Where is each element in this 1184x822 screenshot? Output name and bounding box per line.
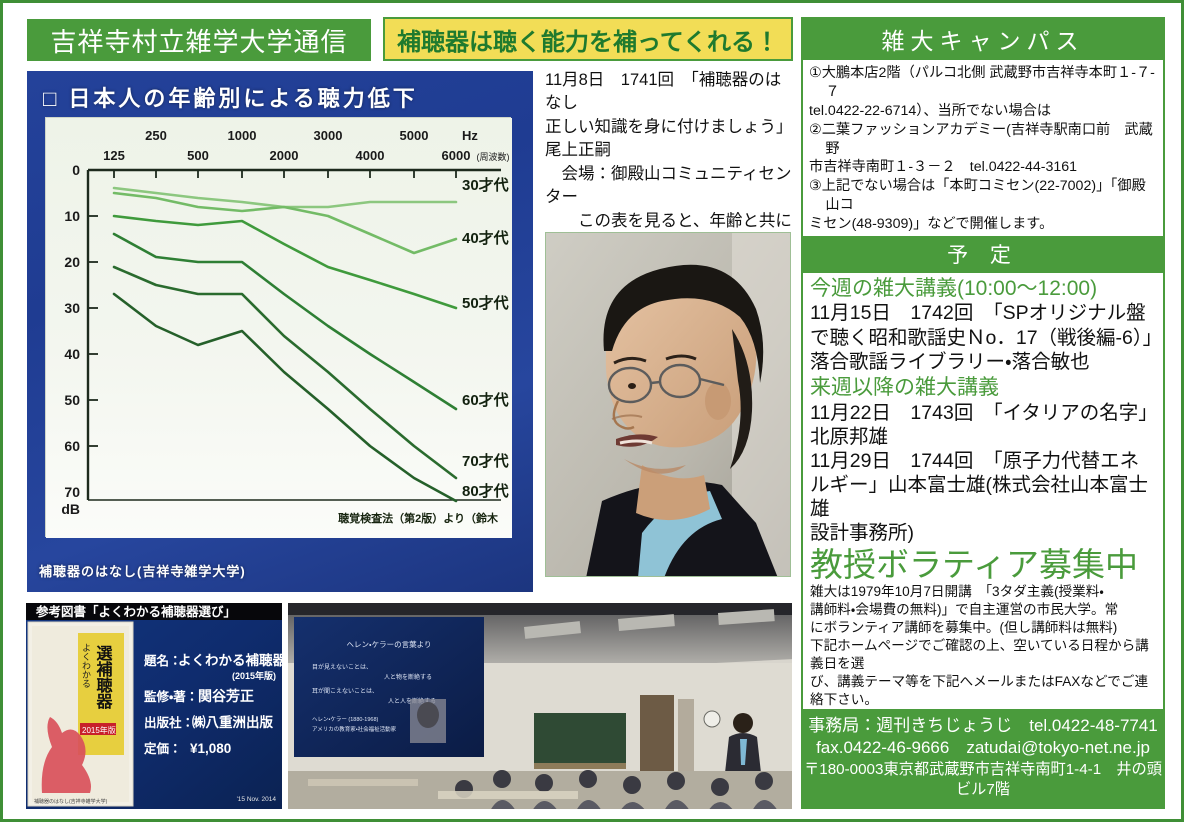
next-week-line: 設計事務所) <box>810 521 1156 545</box>
newsletter-title: 吉祥寺村立雑学大学通信 <box>50 22 347 59</box>
chart-area: 250 1000 3000 5000 Hz 125 500 2000 4000 … <box>45 117 511 537</box>
footer-contact: 事務局：週刊きちじょうじ tel.0422-48-7741 fax.0422-4… <box>803 709 1163 807</box>
schedule-header: 予 定 <box>803 236 1163 273</box>
chart-caption: 補聴器のはなし(吉祥寺雑学大学) <box>39 561 246 580</box>
left-content-block: 吉祥寺村立雑学大学通信 補聴器は聴く能力を補ってくれる！ □ 日本人の年齢別によ… <box>25 17 793 809</box>
recruit-body-line: び、講義テーマ等を下記へメールまたはFAXなどでご連絡下さい。 <box>810 673 1156 709</box>
footer-line-address: 〒180-0003東京都武蔵野市吉祥寺南町1-4-1 井の頭ビル7階 <box>803 760 1163 800</box>
campus-item: ③上記でない場合は「本町コミセン(22-7002)」「御殿山コ <box>809 177 1157 215</box>
book-label-publisher: 出版社： <box>144 715 194 730</box>
book-banner-text: 参考図書「よくわかる補聴器選び」 <box>35 604 236 619</box>
hearing-loss-line-chart: 250 1000 3000 5000 Hz 125 500 2000 4000 … <box>46 118 512 538</box>
chart-poster-panel: □ 日本人の年齢別による聴力低下 250 1000 <box>25 69 535 594</box>
newsletter-page: 吉祥寺村立雑学大学通信 補聴器は聴く能力を補ってくれる！ □ 日本人の年齢別によ… <box>0 0 1184 822</box>
recruit-title: 教授ボラティア募集中 <box>810 548 1156 582</box>
right-sidebar: 雑大キャンパス ①大鵬本店2階（パルコ北側 武蔵野市吉祥寺本町１-７-７ tel… <box>801 17 1165 809</box>
svg-text:1000: 1000 <box>228 128 257 143</box>
campus-item: 市吉祥寺南町１-３－２ tel.0422-44-3161 <box>809 158 1157 177</box>
svg-text:50: 50 <box>64 392 80 408</box>
svg-text:2000: 2000 <box>270 148 299 163</box>
portrait-illustration <box>546 233 791 577</box>
article-line-1: 11月8日 1741回 「補聴器のはなし <box>545 69 793 116</box>
series-label-60s: 60才代 <box>462 391 509 409</box>
book-value-editor: 関谷芳正 <box>198 688 254 704</box>
book-value-publisher: ㈱八重洲出版 <box>192 714 273 730</box>
svg-text:目が見えないことは、: 目が見えないことは、 <box>312 663 372 671</box>
book-cover-year: 2015年版 <box>82 725 116 735</box>
book-cover-corner-note: 補聴器のはなし(吉祥寺雑学大学) <box>34 798 108 805</box>
article-line-2: 正しい知識を身に付けましょう」尾上正嗣 <box>545 116 793 163</box>
this-week-line: 11月15日 1742回 「SPオリジナル盤 <box>810 301 1156 325</box>
campus-text: 上記でない場合は「本町コミセン(22-7002)」「御殿山コ <box>822 178 1146 213</box>
svg-text:dB: dB <box>61 501 80 517</box>
headline-banner: 補聴器は聴く能力を補ってくれる！ <box>383 17 793 61</box>
this-week-title: 今週の雑大講義(10:00〜12:00) <box>810 276 1156 302</box>
campus-item: ②二葉ファッションアカデミー(吉祥寺駅南口前 武蔵野 <box>809 121 1157 159</box>
svg-text:3000: 3000 <box>314 128 343 143</box>
campus-text: 二葉ファッションアカデミー(吉祥寺駅南口前 武蔵野 <box>822 122 1153 157</box>
svg-text:(周波数): (周波数) <box>477 151 510 162</box>
next-week-line: 11月29日 1744回 「原子力代替エネ <box>810 449 1156 473</box>
masthead-title-bar: 吉祥寺村立雑学大学通信 <box>25 17 373 63</box>
campus-marker: ② <box>809 122 822 138</box>
lecture-room-photo: ヘレン・ケラーの言葉より 目が見えないことは、 人と物を断絶する 耳が聞こえない… <box>287 602 793 810</box>
svg-text:40: 40 <box>64 346 80 362</box>
svg-text:125: 125 <box>103 148 125 163</box>
svg-text:10: 10 <box>64 208 80 224</box>
svg-text:20: 20 <box>64 254 80 270</box>
this-week-line: で聴く昭和歌謡史Ｎo．17（戦後編-6）」 <box>810 326 1156 350</box>
campus-item: ミセン(48-9309)」などで開催します。 <box>809 215 1157 234</box>
recruit-body-line: にボランティア講師を募集中。(但し講師料は無料) <box>810 619 1156 637</box>
series-label-80s: 80才代 <box>462 482 509 500</box>
schedule-section: 今週の雑大講義(10:00〜12:00) 11月15日 1742回 「SPオリジ… <box>803 273 1163 582</box>
room-photo-illustration: ヘレン・ケラーの言葉より 目が見えないことは、 人と物を断絶する 耳が聞こえない… <box>288 603 793 810</box>
recruit-body-line: 雑大は1979年10月7日開講 「3タダ主義(授業料・ <box>810 583 1156 601</box>
series-label-50s: 50才代 <box>462 294 509 312</box>
svg-text:ヘレン・ケラー (1880-1968): ヘレン・ケラー (1880-1968) <box>312 716 379 723</box>
svg-text:0: 0 <box>72 162 80 178</box>
recruit-body-line: 講師料・会場費の無料)」で自主運営の市民大学。常 <box>810 601 1156 619</box>
svg-text:30: 30 <box>64 300 80 316</box>
headline-text: 補聴器は聴く能力を補ってくれる！ <box>397 22 779 57</box>
recruit-body: 雑大は1979年10月7日開講 「3タダ主義(授業料・ 講師料・会場費の無料)」… <box>803 583 1163 709</box>
campus-marker: ① <box>809 65 822 81</box>
campus-text: ミセン(48-9309)」などで開催します。 <box>809 216 1053 232</box>
svg-text:60: 60 <box>64 438 80 454</box>
reference-book-photo: 参考図書「よくわかる補聴器選び」 選補聴器 よくわかる 2015年版 補聴器のは… <box>25 602 283 810</box>
slide-title: ヘレン・ケラーの言葉より <box>347 639 432 649</box>
chart-title: □ 日本人の年齢別による聴力低下 <box>43 81 418 113</box>
campus-text: 大鵬本店2階（パルコ北側 武蔵野市吉祥寺本町１-７-７ <box>822 65 1155 100</box>
book-cover-sub: よくわかる <box>81 643 91 688</box>
campus-header: 雑大キャンパス <box>803 19 1163 60</box>
series-label-70s: 70才代 <box>462 452 509 470</box>
svg-text:耳が聞こえないことは、: 耳が聞こえないことは、 <box>312 687 378 695</box>
this-week-line: 落合歌謡ライブラリー・落合敏也 <box>810 350 1156 374</box>
campus-marker: ③ <box>809 178 822 194</box>
campus-item: ①大鵬本店2階（パルコ北側 武蔵野市吉祥寺本町１-７-７ <box>809 64 1157 102</box>
campus-text: tel.0422-22-6714）、当所でない場合は <box>809 103 1051 119</box>
book-value-title-year: (2015年版) <box>232 670 276 681</box>
article-line-3: 会場：御殿山コミュニティセンター <box>545 163 793 210</box>
svg-text:アメリカの教育家・社会福祉活動家: アメリカの教育家・社会福祉活動家 <box>312 725 397 733</box>
book-label-price: 定価： <box>143 741 182 756</box>
next-week-line: 11月22日 1743回 「イタリアの名字」 <box>810 401 1156 425</box>
lecturer-portrait-photo <box>545 232 791 577</box>
series-label-40s: 40才代 <box>462 229 509 247</box>
book-photo-illustration: 参考図書「よくわかる補聴器選び」 選補聴器 よくわかる 2015年版 補聴器のは… <box>26 603 283 810</box>
next-week-line: 北原邦雄 <box>810 425 1156 449</box>
campus-item: tel.0422-22-6714）、当所でない場合は <box>809 102 1157 121</box>
svg-text:Hz: Hz <box>462 128 478 143</box>
svg-text:人と物を断絶する: 人と物を断絶する <box>384 673 432 681</box>
svg-text:5000: 5000 <box>400 128 429 143</box>
book-value-title: よくわかる補聴器選び <box>178 652 283 668</box>
recruit-body-line: 下記ホームページでご確認の上、空いている日程から講義日を選 <box>810 637 1156 673</box>
campus-address-list: ①大鵬本店2階（パルコ北側 武蔵野市吉祥寺本町１-７-７ tel.0422-22… <box>803 60 1163 236</box>
book-date-stamp: '15 Nov. 2014 <box>237 796 277 803</box>
footer-line-office: 事務局：週刊きちじょうじ tel.0422-48-7741 <box>803 715 1163 737</box>
svg-text:70: 70 <box>64 484 80 500</box>
chart-source-note: 聴覚検査法（第2版）より（鈴木 <box>338 511 499 525</box>
svg-text:500: 500 <box>187 148 209 163</box>
series-label-30s: 30才代 <box>462 176 509 194</box>
svg-text:6000: 6000 <box>442 148 471 163</box>
book-label-title: 題名： <box>144 653 182 668</box>
svg-text:4000: 4000 <box>356 148 385 163</box>
book-value-price: ¥1,080 <box>190 741 231 756</box>
masthead-row: 吉祥寺村立雑学大学通信 補聴器は聴く能力を補ってくれる！ <box>25 17 793 63</box>
next-week-line: ルギー」山本富士雄(株式会社山本富士雄 <box>810 473 1156 521</box>
svg-text:250: 250 <box>145 128 167 143</box>
campus-text: 市吉祥寺南町１-３－２ tel.0422-44-3161 <box>809 159 1077 175</box>
footer-line-fax-email: fax.0422-46-9666 zatudai@tokyo-net.ne.jp <box>803 737 1163 759</box>
book-label-editor: 監修・著： <box>144 689 198 704</box>
next-weeks-title: 来週以降の雑大講義 <box>810 375 1156 401</box>
